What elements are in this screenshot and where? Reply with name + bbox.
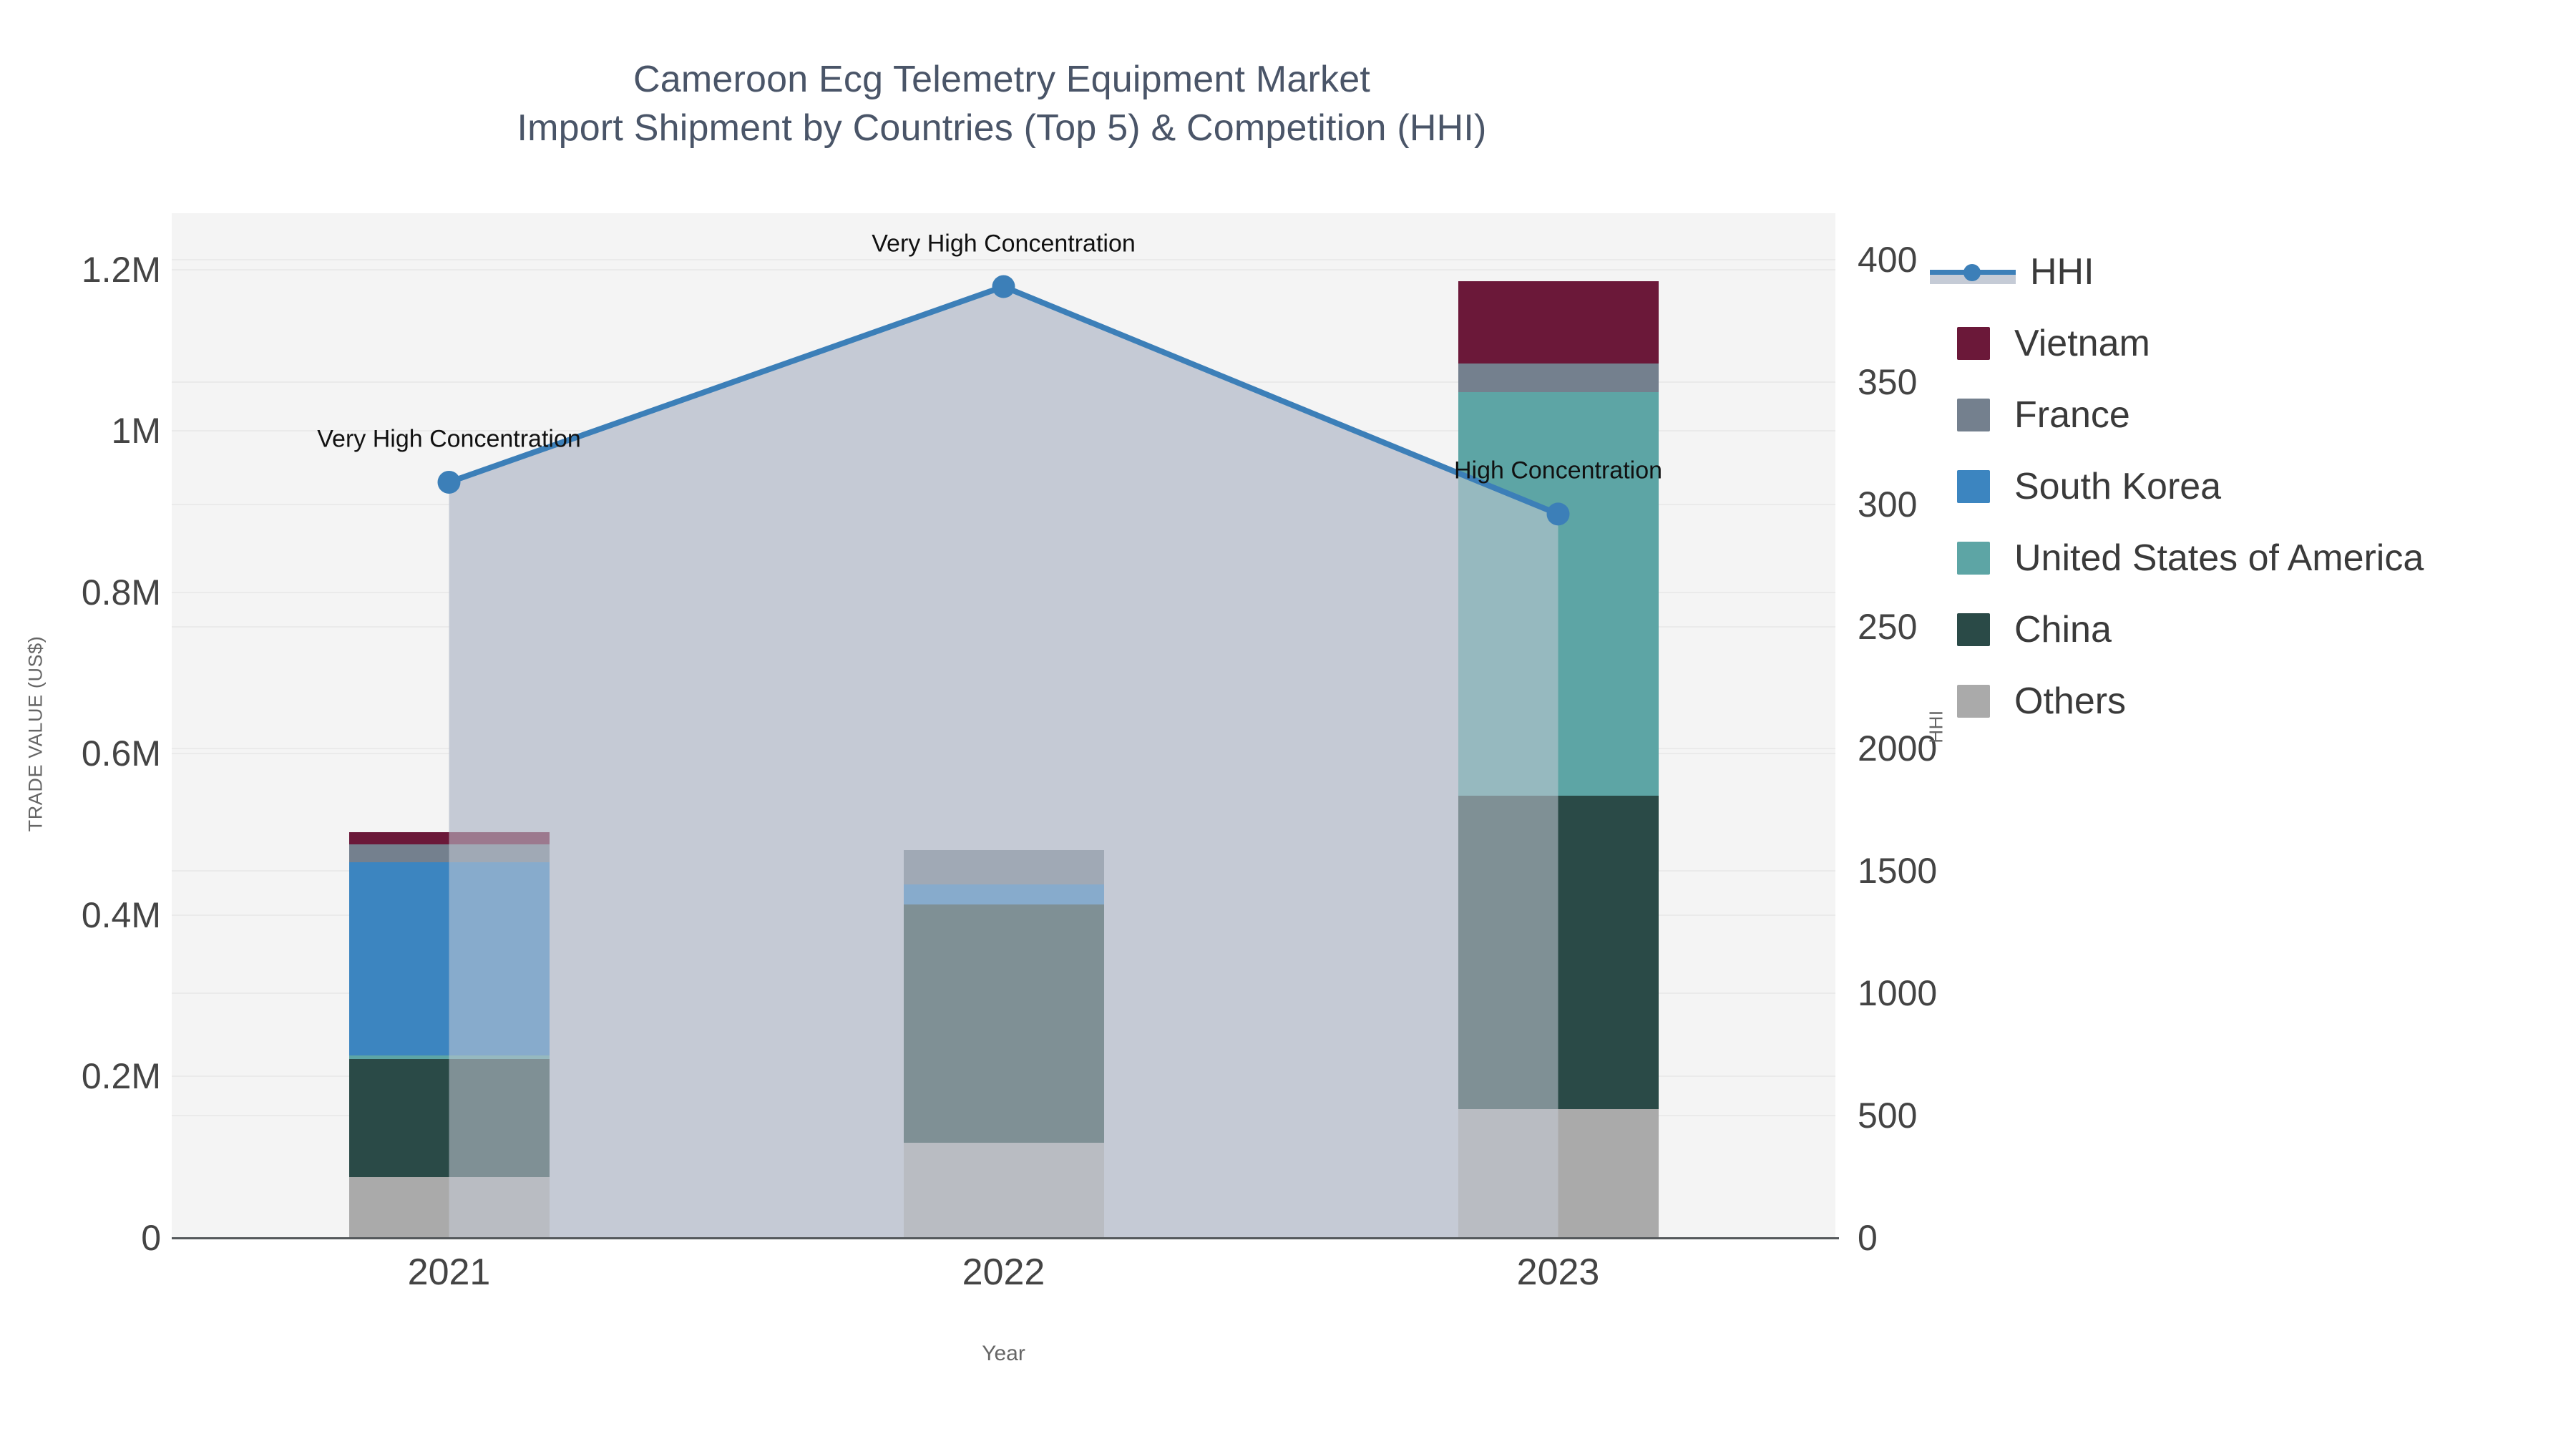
x-axis-tick-label: 2022 [861,1251,1147,1294]
legend-item-others[interactable]: Others [1957,665,2558,737]
chart-title: Cameroon Ecg Telemetry Equipment Market … [0,56,2004,152]
y-axis-right-tick-label: 0 [1858,1217,1878,1259]
bar-segment[interactable] [1458,281,1659,364]
hhi-data-point[interactable] [992,275,1015,298]
x-axis-tick-label: 2023 [1415,1251,1702,1294]
legend-dot-marker-icon [1963,264,1981,281]
legend-color-swatch [1957,542,1990,575]
legend-item-china[interactable]: China [1957,594,2558,665]
legend-item-vietnam[interactable]: Vietnam [1957,308,2558,379]
y-axis-left-tick-label: 0.2M [7,1055,161,1097]
y-axis-right-tick-label: 350 [1858,361,1917,403]
legend-item-label: HHI [2030,253,2094,291]
y-axis-left-tick-label: 1.2M [7,249,161,291]
legend-line-marker-icon [1930,255,2016,288]
y-axis-left-tick-label: 1M [7,410,161,452]
legend-item-south-korea[interactable]: South Korea [1957,451,2558,522]
y-axis-right-tick-label: 250 [1858,606,1917,648]
x-axis-tick-label: 2021 [306,1251,592,1294]
legend-item-label: China [2014,611,2112,648]
bar-segment[interactable] [904,1143,1104,1238]
bar-segment[interactable] [1458,796,1659,1108]
y-axis-left-label: TRADE VALUE (US$) [25,548,47,920]
bar-segment[interactable] [349,862,550,1056]
y-axis-right-tick-label: 500 [1858,1095,1917,1136]
bar-segment[interactable] [349,832,550,844]
chart-legend: HHIVietnamFranceSouth KoreaUnited States… [1957,236,2558,737]
chart-title-line-2: Import Shipment by Countries (Top 5) & C… [0,104,2004,153]
y-axis-right-tick-label: 1500 [1858,850,1937,892]
plot-area [172,213,1835,1238]
bar-segment[interactable] [349,1177,550,1238]
hhi-annotation-label: Very High Concentration [872,230,1136,258]
x-axis-label: Year [172,1342,1835,1366]
legend-item-hhi[interactable]: HHI [1957,236,2558,308]
x-axis-line [172,1237,1839,1239]
bar-segment[interactable] [349,1055,550,1059]
hhi-annotation-label: High Concentration [1454,457,1662,485]
y-axis-left-tick-label: 0 [7,1217,161,1259]
legend-item-label: Others [2014,683,2126,720]
y-axis-right-tick-label: 300 [1858,484,1917,525]
y-axis-right-tick-label: 1000 [1858,972,1937,1014]
gridline [172,259,1835,260]
bar-segment[interactable] [1458,392,1659,796]
gridline [172,269,1835,270]
legend-item-france[interactable]: France [1957,379,2558,451]
bar-segment[interactable] [1458,364,1659,393]
bar-segment[interactable] [1458,1109,1659,1238]
chart-canvas: Cameroon Ecg Telemetry Equipment Market … [0,0,2576,1449]
legend-color-swatch [1957,399,1990,431]
bar-segment[interactable] [904,884,1104,904]
hhi-line[interactable] [449,287,1558,514]
legend-item-label: United States of America [2014,540,2424,577]
bar-segment[interactable] [904,904,1104,1143]
legend-color-swatch [1957,685,1990,718]
bar-segment[interactable] [904,850,1104,884]
y-axis-right-tick-label: 400 [1858,239,1917,280]
legend-item-united-states-of-america[interactable]: United States of America [1957,522,2558,594]
chart-title-line-1: Cameroon Ecg Telemetry Equipment Market [0,56,2004,104]
legend-color-swatch [1957,327,1990,360]
bar-segment[interactable] [349,844,550,862]
y-axis-right-label: HHI [1926,641,1948,813]
hhi-data-point[interactable] [438,471,461,494]
legend-color-swatch [1957,470,1990,503]
bar-segment[interactable] [349,1059,550,1178]
legend-item-label: South Korea [2014,468,2221,505]
legend-item-label: France [2014,396,2130,434]
legend-item-label: Vietnam [2014,325,2150,362]
legend-color-swatch [1957,613,1990,646]
hhi-annotation-label: Very High Concentration [317,425,581,453]
